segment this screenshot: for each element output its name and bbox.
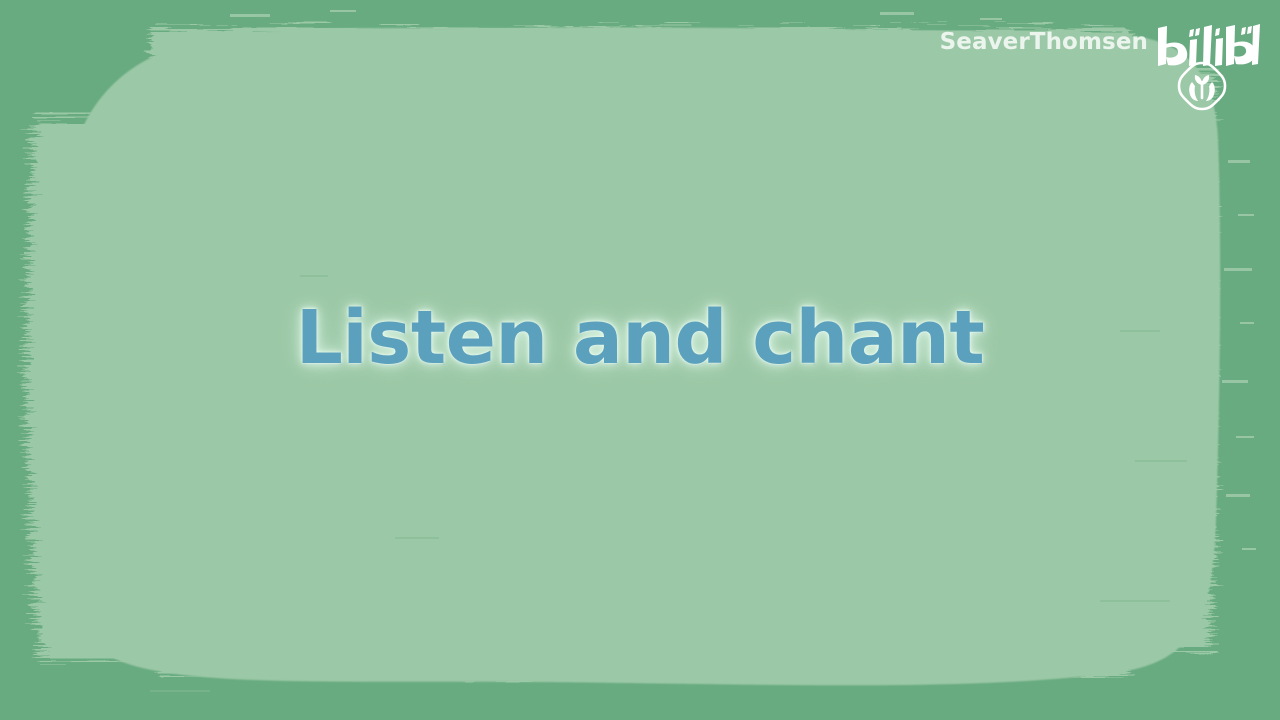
bilibili-logo	[1154, 24, 1262, 114]
video-frame: Listen and chant SeaverThomsen	[0, 0, 1280, 720]
watermark: SeaverThomsen	[940, 24, 1262, 114]
sprout-in-hands-badge-icon	[1176, 60, 1228, 112]
uploader-name: SeaverThomsen	[940, 24, 1148, 60]
